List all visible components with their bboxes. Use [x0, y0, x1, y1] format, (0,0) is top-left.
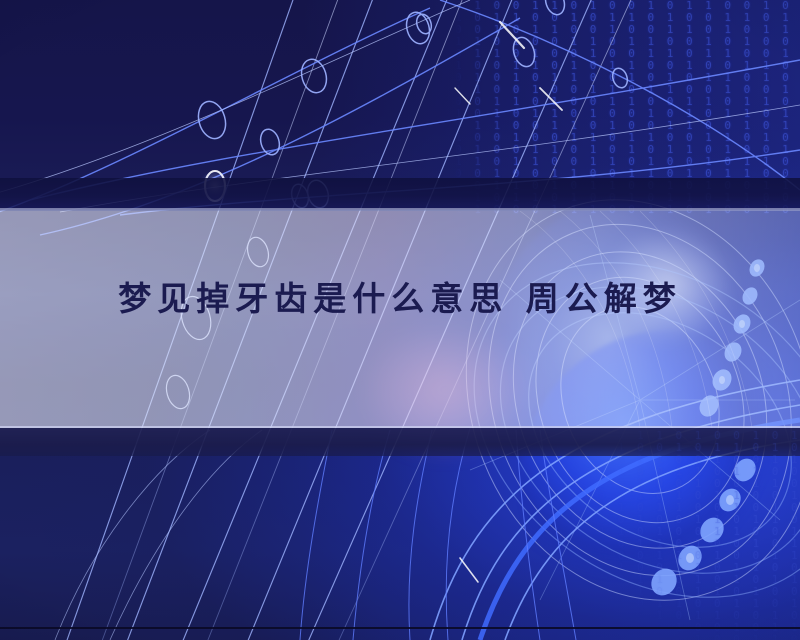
binary-row: 1 1 0 0 0 1 1 1 0 0 1 1 0 1 0 0 1 0 1 1 …	[560, 634, 800, 640]
banner-title: 梦见掉牙齿是什么意思 周公解梦	[118, 272, 682, 320]
binary-code-field-lower: 0 1 0 0 1 1 0 1 0 0 1 0 1 1 0 0 1 0 1 0 …	[560, 430, 800, 640]
banner-image: 0 1 0 0 1 1 0 1 0 0 1 0 1 1 0 0 1 0 1 0 …	[0, 0, 800, 640]
bottom-edge-rule	[0, 627, 800, 629]
banner-title-container: 梦见掉牙齿是什么意思 周公解梦	[0, 272, 800, 320]
top-dark-band	[0, 178, 800, 210]
